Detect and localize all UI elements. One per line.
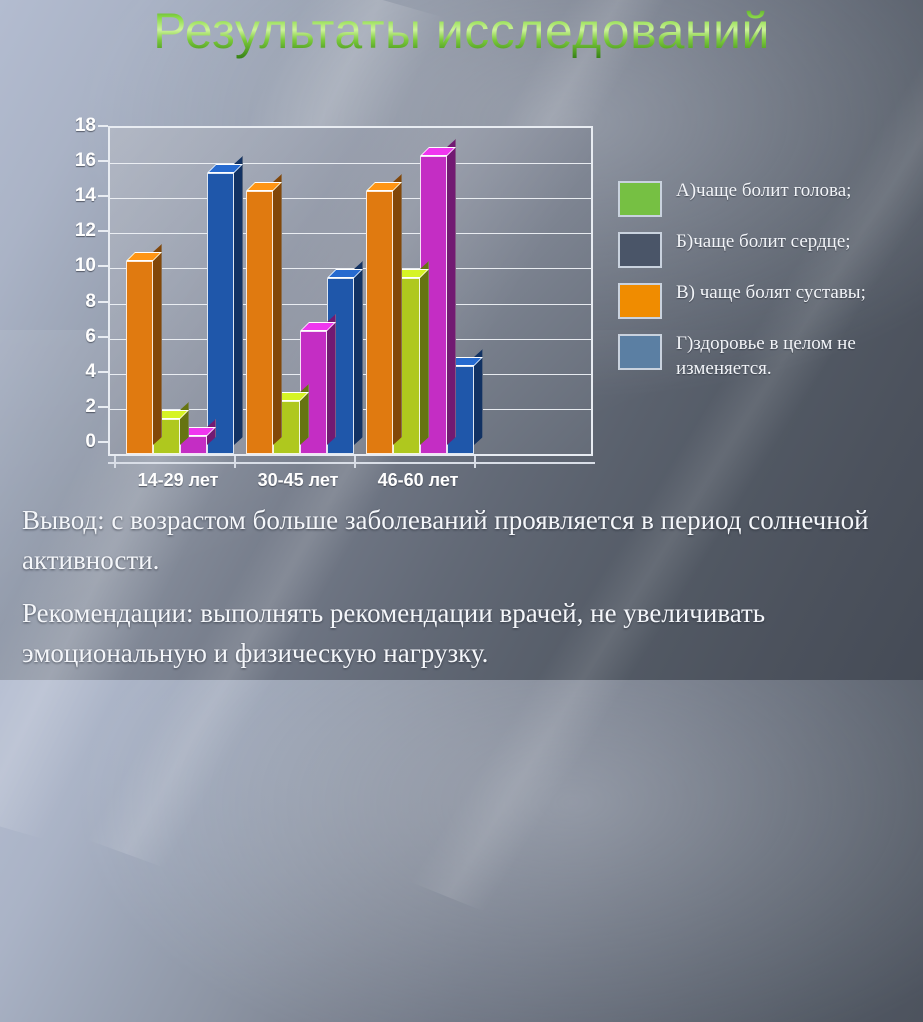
y-axis-tick-label: 16 <box>75 150 96 172</box>
y-axis-tick-label: 14 <box>75 185 96 207</box>
legend-item: В) чаще болят суставы; <box>618 280 913 319</box>
bar-group <box>366 128 486 454</box>
legend-item: А)чаще болит голова; <box>618 178 913 217</box>
legend-color-swatch <box>618 334 662 370</box>
x-axis-category-label: 30-45 лет <box>258 470 339 491</box>
chart-legend: А)чаще болит голова;Б)чаще болит сердце;… <box>618 178 913 393</box>
bar-group <box>126 128 246 454</box>
legend-label: Г)здоровье в целом не изменяется. <box>676 331 913 381</box>
y-axis-tick-label: 2 <box>85 396 96 418</box>
y-axis-tick-label: 4 <box>85 361 96 383</box>
y-axis-tick-label: 6 <box>85 326 96 348</box>
recommendation-block: Рекомендации: выполнять рекомендации вра… <box>22 593 902 673</box>
chart-bars <box>110 128 591 454</box>
x-axis-category-label: 14-29 лет <box>138 470 219 491</box>
legend-label: В) чаще болят суставы; <box>676 280 866 305</box>
legend-color-swatch <box>618 181 662 217</box>
bar-side <box>273 174 282 445</box>
y-axis-labels: 024681012141618 <box>60 120 96 450</box>
y-axis-tick-mark <box>98 125 108 127</box>
legend-item: Г)здоровье в целом не изменяется. <box>618 331 913 381</box>
y-axis-tick-label: 0 <box>85 431 96 453</box>
y-axis-tick-mark <box>98 230 108 232</box>
bar <box>126 261 153 454</box>
conclusion-text: Вывод: с возрастом больше заболеваний пр… <box>22 500 902 580</box>
y-axis-tick-mark <box>98 265 108 267</box>
recommendation-text: Рекомендации: выполнять рекомендации вра… <box>22 593 902 673</box>
bar <box>207 173 234 454</box>
slide-title: Результаты исследований <box>0 2 923 60</box>
bar-side <box>447 138 456 445</box>
gridline <box>110 233 591 234</box>
y-axis-tick-mark <box>98 336 108 338</box>
y-axis-tick-mark <box>98 371 108 373</box>
x-axis-category-label: 46-60 лет <box>378 470 459 491</box>
legend-color-swatch <box>618 283 662 319</box>
x-axis-line <box>108 462 595 464</box>
y-axis-tick-label: 8 <box>85 291 96 313</box>
gridline <box>110 198 591 199</box>
y-axis-tick-label: 18 <box>75 115 96 137</box>
gridline <box>110 163 591 164</box>
bar-side <box>393 174 402 445</box>
y-axis-tick-label: 10 <box>75 255 96 277</box>
bar-side <box>153 244 162 445</box>
bar-side <box>234 156 243 445</box>
y-axis-tick-mark <box>98 441 108 443</box>
y-axis-tick-mark <box>98 406 108 408</box>
bar-group <box>246 128 366 454</box>
chart-plot-area <box>108 126 593 456</box>
legend-color-swatch <box>618 232 662 268</box>
bar-side <box>420 261 429 445</box>
y-axis-tick-mark <box>98 301 108 303</box>
bar-face <box>246 191 273 454</box>
y-axis-tick-label: 12 <box>75 220 96 242</box>
bar-side <box>327 314 336 445</box>
x-axis-tick-mark <box>234 456 236 468</box>
y-axis-tick-mark <box>98 195 108 197</box>
y-axis-tick-mark <box>98 160 108 162</box>
x-axis-tick-mark <box>354 456 356 468</box>
bar-face <box>126 261 153 454</box>
legend-label: Б)чаще болит сердце; <box>676 229 851 254</box>
bar-face <box>366 191 393 454</box>
x-axis-tick-mark <box>114 456 116 468</box>
x-axis-category-labels: 14-29 лет30-45 лет46-60 лет <box>108 470 595 500</box>
legend-label: А)чаще болит голова; <box>676 178 851 203</box>
bar-chart: 024681012141618 14-29 лет30-45 лет46-60 … <box>60 120 605 470</box>
x-axis-tick-mark <box>474 456 476 468</box>
bar <box>366 191 393 454</box>
legend-item: Б)чаще болит сердце; <box>618 229 913 268</box>
bar-side <box>354 261 363 445</box>
bar <box>246 191 273 454</box>
bar-face <box>207 173 234 454</box>
conclusion-block: Вывод: с возрастом больше заболеваний пр… <box>22 500 902 580</box>
